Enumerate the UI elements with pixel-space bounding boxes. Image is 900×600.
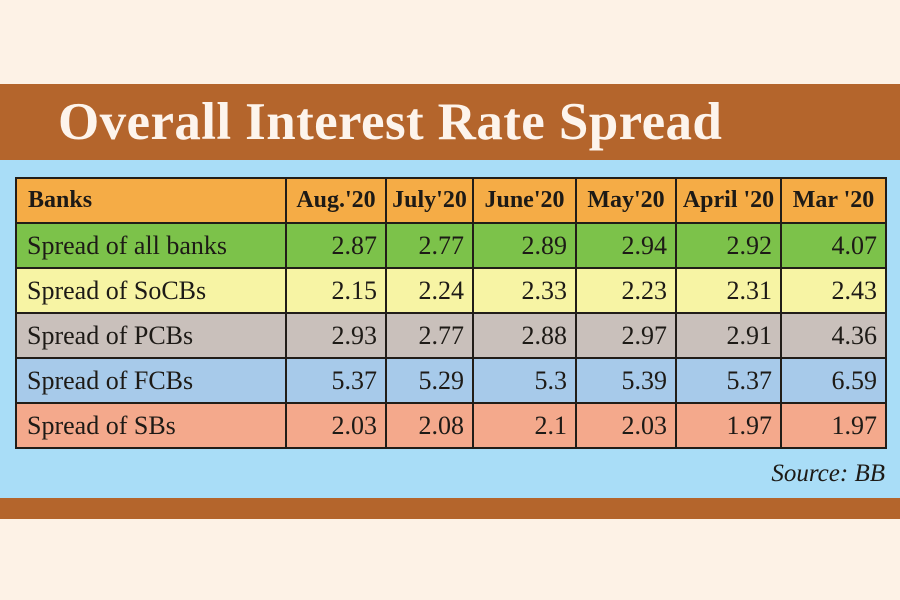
cell-socbs-may20: 2.23 — [576, 268, 676, 313]
table-row: Spread of SBs 2.03 2.08 2.1 2.03 1.97 1.… — [16, 403, 886, 448]
cell-sbs-july20: 2.08 — [386, 403, 473, 448]
table-header-row: Banks Aug.'20 July'20 June'20 May'20 Apr… — [16, 178, 886, 223]
interest-rate-spread-table: Banks Aug.'20 July'20 June'20 May'20 Apr… — [15, 177, 887, 449]
column-header-aug20: Aug.'20 — [286, 178, 386, 223]
column-header-mar20: Mar '20 — [781, 178, 886, 223]
row-label-socbs: Spread of SoCBs — [16, 268, 286, 313]
column-header-april20: April '20 — [676, 178, 781, 223]
cell-fcbs-april20: 5.37 — [676, 358, 781, 403]
content-panel: Banks Aug.'20 July'20 June'20 May'20 Apr… — [0, 160, 900, 498]
cell-all-banks-aug20: 2.87 — [286, 223, 386, 268]
table-row: Spread of SoCBs 2.15 2.24 2.33 2.23 2.31… — [16, 268, 886, 313]
cell-all-banks-april20: 2.92 — [676, 223, 781, 268]
cell-sbs-aug20: 2.03 — [286, 403, 386, 448]
cell-all-banks-june20: 2.89 — [473, 223, 576, 268]
cell-sbs-june20: 2.1 — [473, 403, 576, 448]
cell-socbs-mar20: 2.43 — [781, 268, 886, 313]
row-label-sbs: Spread of SBs — [16, 403, 286, 448]
page-title: Overall Interest Rate Spread — [58, 96, 722, 149]
column-header-may20: May'20 — [576, 178, 676, 223]
cell-fcbs-aug20: 5.37 — [286, 358, 386, 403]
table-row: Spread of FCBs 5.37 5.29 5.3 5.39 5.37 6… — [16, 358, 886, 403]
source-note: Source: BB — [15, 460, 885, 488]
row-label-all-banks: Spread of all banks — [16, 223, 286, 268]
row-label-fcbs: Spread of FCBs — [16, 358, 286, 403]
cell-socbs-april20: 2.31 — [676, 268, 781, 313]
cell-fcbs-june20: 5.3 — [473, 358, 576, 403]
cell-fcbs-mar20: 6.59 — [781, 358, 886, 403]
cell-sbs-may20: 2.03 — [576, 403, 676, 448]
footer-band — [0, 498, 900, 519]
cell-socbs-june20: 2.33 — [473, 268, 576, 313]
cell-all-banks-mar20: 4.07 — [781, 223, 886, 268]
cell-fcbs-may20: 5.39 — [576, 358, 676, 403]
title-band: Overall Interest Rate Spread — [0, 84, 900, 160]
table-header: Banks Aug.'20 July'20 June'20 May'20 Apr… — [16, 178, 886, 223]
cell-pcbs-may20: 2.97 — [576, 313, 676, 358]
table-body: Spread of all banks 2.87 2.77 2.89 2.94 … — [16, 223, 886, 448]
infographic-root: Overall Interest Rate Spread Banks Aug.'… — [0, 0, 900, 600]
cell-socbs-july20: 2.24 — [386, 268, 473, 313]
cell-pcbs-july20: 2.77 — [386, 313, 473, 358]
table-row: Spread of PCBs 2.93 2.77 2.88 2.97 2.91 … — [16, 313, 886, 358]
cell-pcbs-aug20: 2.93 — [286, 313, 386, 358]
column-header-banks: Banks — [16, 178, 286, 223]
column-header-july20: July'20 — [386, 178, 473, 223]
cell-all-banks-may20: 2.94 — [576, 223, 676, 268]
cell-pcbs-mar20: 4.36 — [781, 313, 886, 358]
cell-pcbs-june20: 2.88 — [473, 313, 576, 358]
cell-all-banks-july20: 2.77 — [386, 223, 473, 268]
column-header-june20: June'20 — [473, 178, 576, 223]
table-container: Banks Aug.'20 July'20 June'20 May'20 Apr… — [15, 177, 885, 449]
cell-socbs-aug20: 2.15 — [286, 268, 386, 313]
table-row: Spread of all banks 2.87 2.77 2.89 2.94 … — [16, 223, 886, 268]
cell-sbs-mar20: 1.97 — [781, 403, 886, 448]
cell-sbs-april20: 1.97 — [676, 403, 781, 448]
row-label-pcbs: Spread of PCBs — [16, 313, 286, 358]
cell-fcbs-july20: 5.29 — [386, 358, 473, 403]
cell-pcbs-april20: 2.91 — [676, 313, 781, 358]
